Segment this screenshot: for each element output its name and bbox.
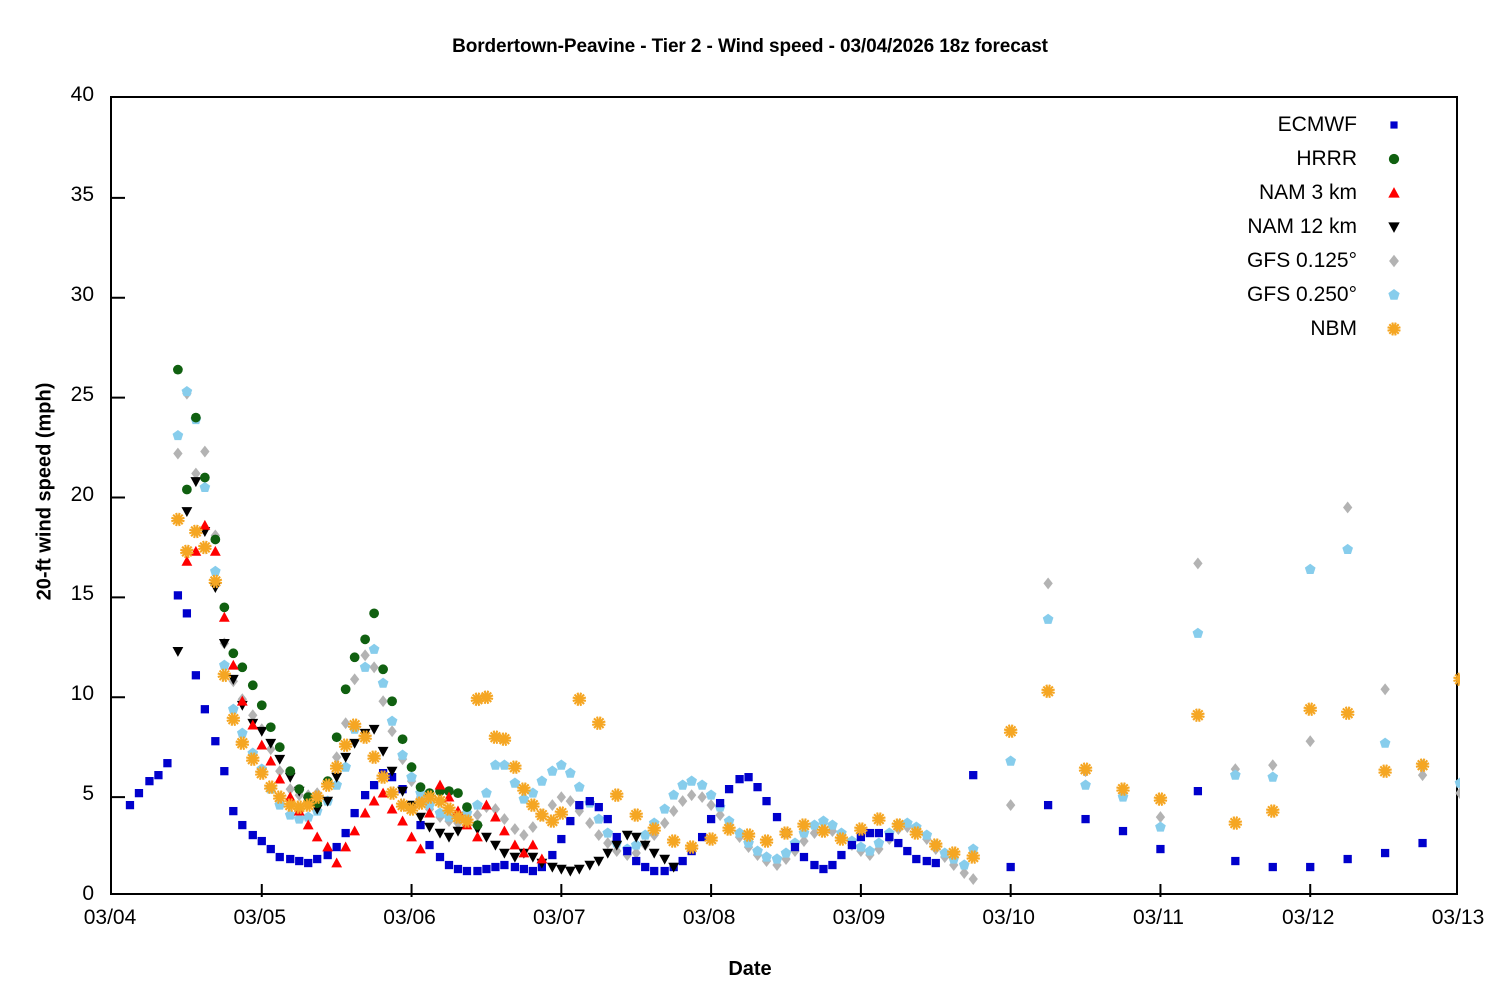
x-tick-label: 03/05	[200, 906, 320, 930]
x-axis-ticks: 03/0403/0503/0603/0703/0803/0903/1003/11…	[110, 906, 1458, 946]
legend-label: NAM 3 km	[1259, 181, 1383, 205]
legend-item-nbm[interactable]: NBM	[1180, 312, 1405, 345]
y-axis-label-holder: 20-ft wind speed (mph)	[0, 0, 1, 1]
chart-legend: ECMWFHRRRNAM 3 kmNAM 12 kmGFS 0.125°GFS …	[1180, 108, 1405, 345]
x-tick-label: 03/09	[799, 906, 919, 930]
legend-marker-triangle-up-icon	[1383, 182, 1405, 204]
x-axis-label: Date	[0, 958, 1500, 981]
legend-label: NAM 12 km	[1247, 215, 1383, 239]
legend-label: NBM	[1310, 317, 1383, 341]
legend-marker-asterisk-icon	[1383, 318, 1405, 340]
legend-marker-square-icon	[1383, 114, 1405, 136]
x-tick-label: 03/07	[499, 906, 619, 930]
legend-item-ecmwf[interactable]: ECMWF	[1180, 108, 1405, 141]
x-tick-label: 03/06	[350, 906, 470, 930]
legend-label: ECMWF	[1278, 113, 1383, 137]
legend-item-hrrr[interactable]: HRRR	[1180, 142, 1405, 175]
legend-item-gfs-0-125[interactable]: GFS 0.125°	[1180, 244, 1405, 277]
series-hrrr	[173, 365, 482, 830]
x-tick-label: 03/11	[1098, 906, 1218, 930]
x-tick-label: 03/12	[1248, 906, 1368, 930]
y-axis-label: 20-ft wind speed (mph)	[34, 92, 57, 892]
page-title: Bordertown-Peavine - Tier 2 - Wind speed…	[0, 36, 1500, 58]
legend-label: GFS 0.250°	[1247, 283, 1383, 307]
legend-marker-circle-icon	[1383, 148, 1405, 170]
legend-marker-triangle-down-icon	[1383, 216, 1405, 238]
chart-page: Bordertown-Peavine - Tier 2 - Wind speed…	[0, 0, 1500, 1000]
series-ecmwf	[126, 591, 1427, 875]
legend-label: GFS 0.125°	[1247, 249, 1383, 273]
series-nam-3-km	[181, 520, 547, 867]
x-tick-label: 03/04	[50, 906, 170, 930]
x-tick-label: 03/13	[1398, 906, 1500, 930]
x-tick-label: 03/08	[649, 906, 769, 930]
legend-item-gfs-0-250[interactable]: GFS 0.250°	[1180, 278, 1405, 311]
x-tick-label: 03/10	[949, 906, 1069, 930]
legend-marker-diamond-icon	[1383, 250, 1405, 272]
legend-item-nam-3-km[interactable]: NAM 3 km	[1180, 176, 1405, 209]
legend-marker-pentagon-icon	[1383, 284, 1405, 306]
legend-label: HRRR	[1296, 147, 1383, 171]
legend-item-nam-12-km[interactable]: NAM 12 km	[1180, 210, 1405, 243]
